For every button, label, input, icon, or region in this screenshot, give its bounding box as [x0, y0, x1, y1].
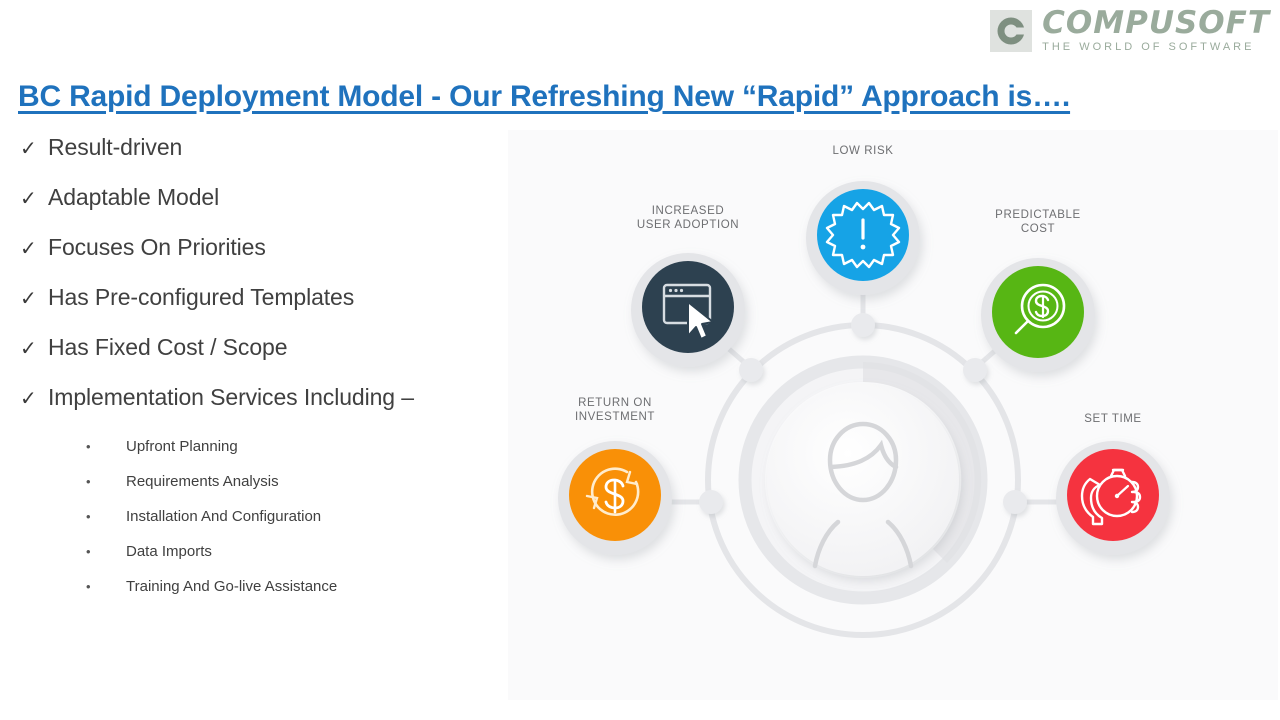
bullet-dot-icon: •: [14, 580, 126, 593]
benefits-list: ✓ Result-driven ✓ Adaptable Model ✓ Focu…: [14, 134, 504, 613]
list-item-label: Adaptable Model: [48, 184, 219, 211]
compusoft-c-mark-icon: [990, 10, 1032, 52]
list-item: ✓ Adaptable Model: [14, 184, 504, 234]
page-title: BC Rapid Deployment Model - Our Refreshi…: [18, 80, 1070, 114]
diagram-node-set-time[interactable]: [1056, 441, 1170, 555]
sublist-item: • Data Imports: [14, 543, 504, 578]
list-item: ✓ Has Pre-configured Templates: [14, 284, 504, 334]
list-item: ✓ Focuses On Priorities: [14, 234, 504, 284]
sublist-item: • Training And Go-live Assistance: [14, 578, 504, 613]
sublist-item: • Installation And Configuration: [14, 508, 504, 543]
list-item-label: Focuses On Priorities: [48, 234, 266, 261]
diagram-node-low-risk[interactable]: [806, 181, 920, 295]
sublist-item-label: Installation And Configuration: [126, 508, 321, 525]
sublist-item: • Requirements Analysis: [14, 473, 504, 508]
compusoft-logo: COMPUSOFT THE WORLD OF SOFTWARE: [990, 8, 1270, 53]
list-item-label: Result-driven: [48, 134, 182, 161]
sublist-item: • Upfront Planning: [14, 438, 504, 473]
check-icon: ✓: [14, 286, 48, 311]
bullet-dot-icon: •: [14, 545, 126, 558]
list-item: ✓ Result-driven: [14, 134, 504, 184]
center-rings: [743, 360, 983, 600]
node-label-increased-user-adoption: INCREASED USER ADOPTION: [618, 204, 758, 232]
benefits-hub-diagram: LOW RISK INCREASED USER ADOPTION PREDICT…: [508, 130, 1278, 700]
list-item-label: Has Fixed Cost / Scope: [48, 334, 287, 361]
sublist-item-label: Upfront Planning: [126, 438, 238, 455]
bullet-dot-icon: •: [14, 440, 126, 453]
node-label-predictable-cost: PREDICTABLE COST: [978, 208, 1098, 236]
check-icon: ✓: [14, 186, 48, 211]
diagram-node-increased-user-adoption[interactable]: [631, 253, 745, 367]
node-label-low-risk: LOW RISK: [803, 144, 923, 158]
node-label-set-time: SET TIME: [1053, 412, 1173, 426]
sublist-item-label: Requirements Analysis: [126, 473, 279, 490]
list-item: ✓ Has Fixed Cost / Scope: [14, 334, 504, 384]
diagram-node-predictable-cost[interactable]: [981, 258, 1095, 372]
check-icon: ✓: [14, 386, 48, 411]
check-icon: ✓: [14, 336, 48, 361]
list-item-label: Has Pre-configured Templates: [48, 284, 354, 311]
implementation-services-sublist: • Upfront Planning • Requirements Analys…: [14, 438, 504, 613]
logo-wordmark: COMPUSOFT: [1042, 8, 1270, 39]
check-icon: ✓: [14, 236, 48, 261]
list-item-label: Implementation Services Including –: [48, 384, 414, 411]
sublist-item-label: Training And Go-live Assistance: [126, 578, 337, 595]
sublist-item-label: Data Imports: [126, 543, 212, 560]
compusoft-logo-text: COMPUSOFT THE WORLD OF SOFTWARE: [1042, 8, 1270, 53]
bullet-dot-icon: •: [14, 475, 126, 488]
list-item: ✓ Implementation Services Including –: [14, 384, 504, 434]
logo-tagline: THE WORLD OF SOFTWARE: [1042, 42, 1254, 53]
check-icon: ✓: [14, 136, 48, 161]
node-label-return-on-investment: RETURN ON INVESTMENT: [555, 396, 675, 424]
diagram-node-return-on-investment[interactable]: [558, 441, 672, 555]
bullet-dot-icon: •: [14, 510, 126, 523]
